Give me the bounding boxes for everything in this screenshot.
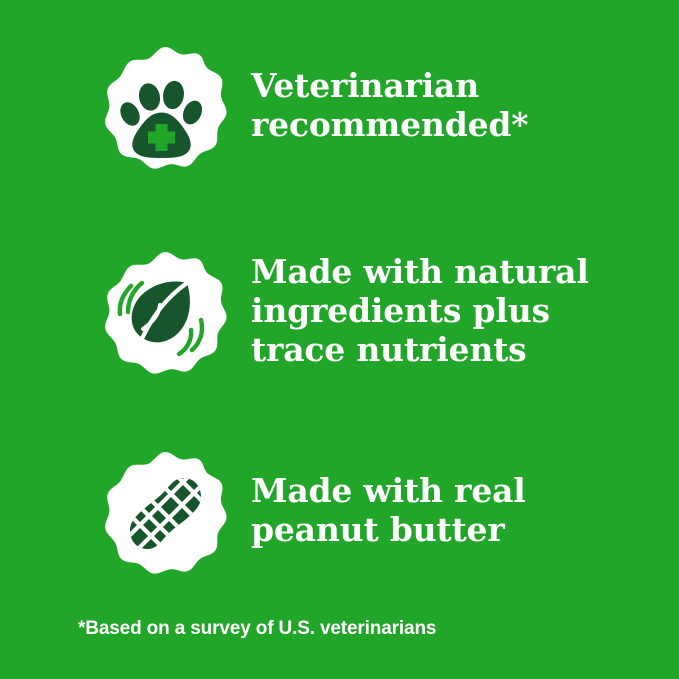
feature-row: Veterinarian recommended* bbox=[0, 45, 679, 181]
feature-heading: Made with natural ingredients plus trace… bbox=[251, 250, 589, 370]
feature-heading: Made with real peanut butter bbox=[251, 450, 526, 550]
leaf-with-motion-lines-badge-icon bbox=[97, 250, 233, 386]
peanut-badge-icon bbox=[97, 450, 233, 586]
promotional-feature-panel: Veterinarian recommended* Made with natu… bbox=[0, 0, 679, 679]
feature-heading: Veterinarian recommended* bbox=[251, 45, 528, 145]
footnote-text: *Based on a survey of U.S. veterinarians bbox=[78, 618, 436, 640]
feature-row: Made with real peanut butter bbox=[0, 450, 679, 586]
feature-row: Made with natural ingredients plus trace… bbox=[0, 250, 679, 386]
paw-with-medical-cross-badge-icon bbox=[97, 45, 233, 181]
